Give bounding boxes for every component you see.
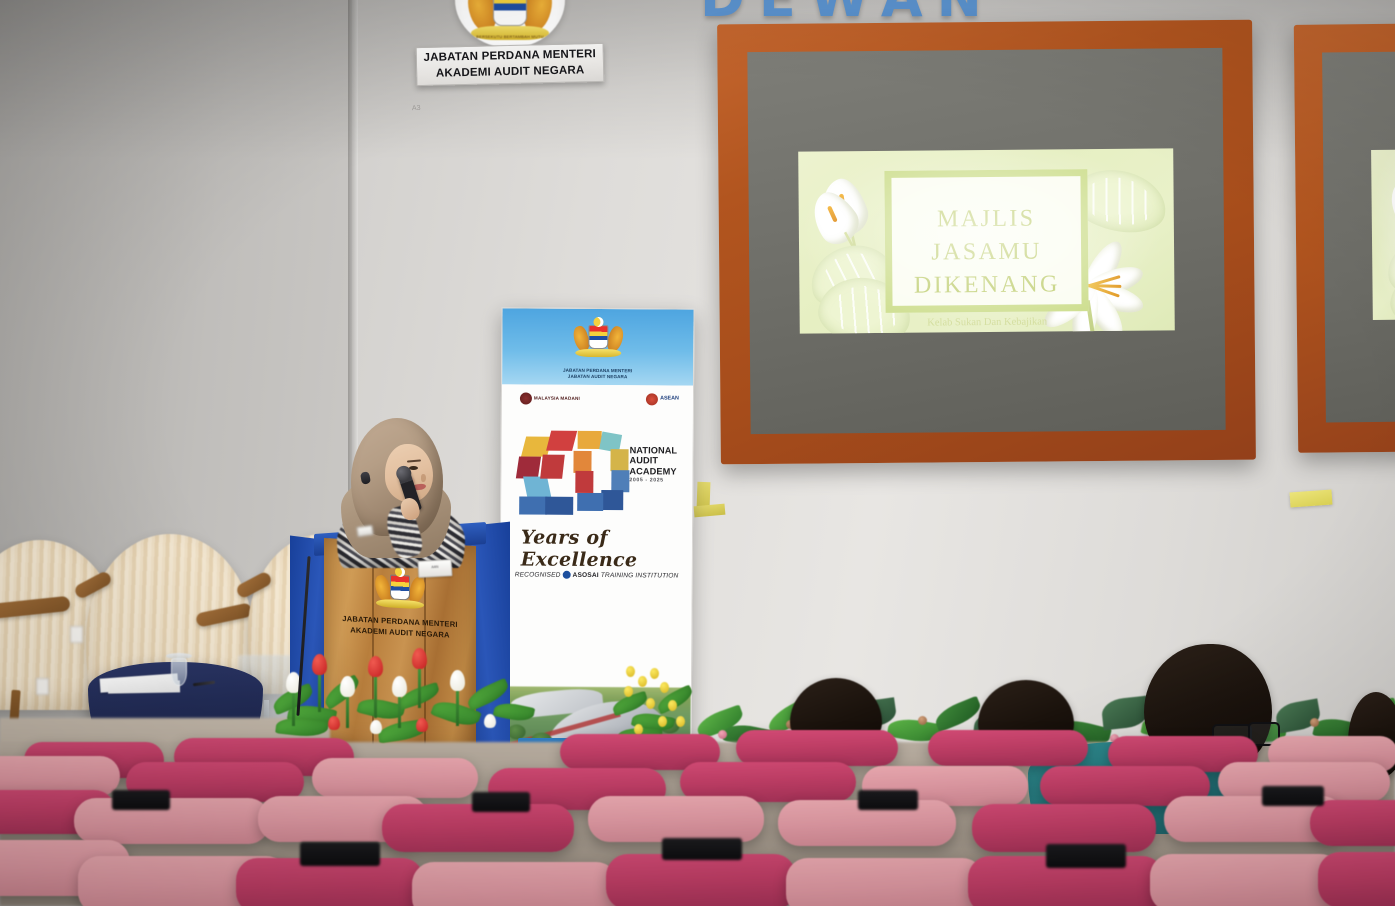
auditorium-seat xyxy=(606,854,796,906)
secondary-presentation-slide xyxy=(1371,149,1395,320)
projection-screen-frame: MAJLIS JASAMU DIKENANG Kelab Sukan Dan K… xyxy=(717,20,1256,465)
asean-label: ASEAN xyxy=(660,397,679,403)
auditorium-seat xyxy=(786,858,984,906)
slide-title-line3: DIKENANG xyxy=(914,269,1060,303)
auditorium-seat xyxy=(1318,852,1395,906)
pen xyxy=(193,681,215,687)
yellow-flower-icon xyxy=(626,666,635,677)
yellow-flower-icon xyxy=(658,716,667,727)
drinking-glass xyxy=(171,658,187,686)
asean-seal-icon xyxy=(646,393,658,405)
white-tulip-icon xyxy=(450,670,465,691)
presentation-slide: MAJLIS JASAMU DIKENANG Kelab Sukan Dan K… xyxy=(798,148,1175,333)
yellow-flower-icon xyxy=(668,700,677,711)
banner-tagline: Years of Excellence xyxy=(521,526,681,571)
red-tulip-icon xyxy=(412,648,427,669)
red-tulip-icon xyxy=(368,656,383,677)
sofa-tag xyxy=(70,626,83,643)
auditorium-seat xyxy=(736,730,898,766)
slide-title-line2: JASAMU xyxy=(931,236,1042,270)
banner-body: MALAYSIA MADANI ASEAN NATIONAL AUDIT ACA… xyxy=(500,384,693,687)
podium-flower-arrangement xyxy=(270,648,535,754)
banner-logo-row: MALAYSIA MADANI ASEAN xyxy=(502,390,693,411)
earpiece xyxy=(360,471,371,484)
banner-org-name: NATIONAL AUDIT ACADEMY 2005 - 2025 xyxy=(629,445,691,484)
auditorium-photo: DEWAN BERSEKUTU BERTAMBAH MUTU JABATAN P… xyxy=(0,0,1395,906)
malaysia-coat-of-arms-icon xyxy=(572,317,624,359)
malaysia-madani-logo: MALAYSIA MADANI xyxy=(520,392,580,404)
slide-text-block: MAJLIS JASAMU DIKENANG Kelab Sukan Dan K… xyxy=(885,169,1089,313)
yellow-flower-icon xyxy=(624,686,633,697)
auditorium-seat xyxy=(412,862,618,906)
slide-title-line1: MAJLIS xyxy=(937,203,1036,237)
anniversary-number-graphic xyxy=(515,426,634,519)
red-tulip-icon xyxy=(312,654,327,675)
banner-org-line2: ACADEMY xyxy=(629,466,691,477)
yellow-flower-icon xyxy=(676,716,685,727)
yellow-flower-icon xyxy=(646,698,655,709)
sticky-note xyxy=(1290,490,1333,508)
recognised-post: TRAINING INSTITUTION xyxy=(601,572,679,580)
banner-org-line1: NATIONAL AUDIT xyxy=(629,445,691,466)
recognised-brand: ASOSAI xyxy=(573,571,599,578)
auditorium-seat xyxy=(588,796,764,842)
asosai-icon xyxy=(563,571,571,579)
white-tulip-icon xyxy=(370,720,382,734)
yellow-flower-icon xyxy=(660,682,669,693)
banner-org-years: 2005 - 2025 xyxy=(629,478,691,484)
auditorium-seat xyxy=(1150,854,1342,906)
sofa-tag xyxy=(36,678,49,695)
red-tulip-icon xyxy=(416,718,428,732)
slide-subtitle-line1: Kelab Sukan Dan Kebajikan xyxy=(927,314,1047,330)
auditorium-seat xyxy=(928,730,1088,766)
banner-recognition: RECOGNISED ASOSAI TRAINING INSTITUTION xyxy=(515,570,685,579)
white-tulip-icon xyxy=(392,676,407,697)
wall-sign-line2: AKADEMI AUDIT NEGARA xyxy=(436,63,585,82)
auditorium-seat xyxy=(74,798,270,844)
madani-label: MALAYSIA MADANI xyxy=(534,396,580,401)
auditorium-seat xyxy=(1310,800,1395,846)
recognised-pre: RECOGNISED xyxy=(515,571,561,578)
secondary-screen-frame xyxy=(1294,23,1395,453)
banner-dept-line2: JABATAN AUDIT NEGARA xyxy=(568,374,628,381)
wall-sign: JABATAN PERDANA MENTERI AKADEMI AUDIT NE… xyxy=(416,43,605,86)
podium-sign: JABATAN PERDANA MENTERI AKADEMI AUDIT NE… xyxy=(324,612,476,643)
podium-badge: AAN xyxy=(418,559,453,578)
crest-motto: BERSEKUTU BERTAMBAH MUTU xyxy=(455,34,565,39)
slide-subtitle-line2: Akademi Audit Negara xyxy=(939,329,1037,333)
white-tulip-icon xyxy=(484,714,496,728)
red-tulip-icon xyxy=(328,716,340,730)
asean-logo: ASEAN xyxy=(646,393,679,405)
speaker-presenter xyxy=(337,418,465,564)
wall-small-mark: A3 xyxy=(412,105,421,112)
yellow-flower-icon xyxy=(638,676,647,687)
yellow-flower-icon xyxy=(650,668,659,679)
screen-mat: MAJLIS JASAMU DIKENANG Kelab Sukan Dan K… xyxy=(747,48,1225,434)
auditorium-seat xyxy=(312,758,478,798)
banner-header: JABATAN PERDANA MENTERI JABATAN AUDIT NE… xyxy=(502,308,694,385)
white-tulip-icon xyxy=(340,676,355,697)
madani-seal-icon xyxy=(520,392,532,404)
papers xyxy=(108,680,180,693)
secondary-screen-mat xyxy=(1322,51,1395,422)
